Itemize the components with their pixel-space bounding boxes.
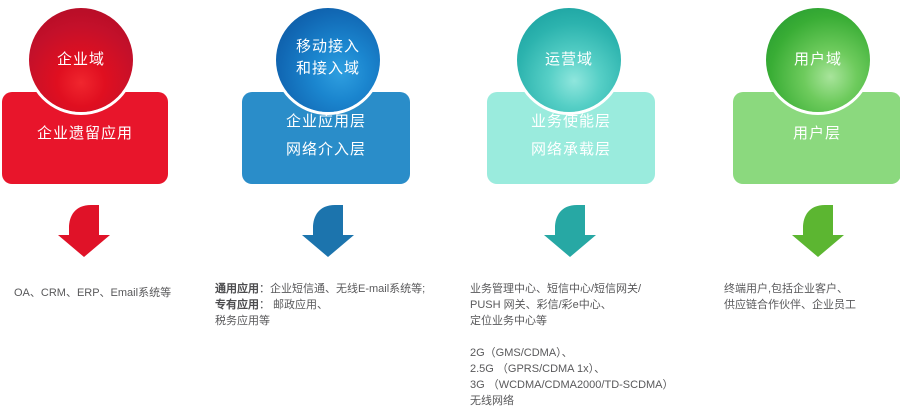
diagram-canvas: 企业遗留应用 企业域 OA、CRM、ERP、Email系统等 企业应用层 网络介… [0,0,900,404]
caption-operation-domain: 业务管理中心、短信中心/短信网关/ PUSH 网关、彩信/彩e中心、 定位业务中… [470,281,674,409]
layer-box-label: 网络承载层 [487,140,655,160]
caption-emphasis: 通用应用 [215,283,259,295]
domain-circle-operation-domain[interactable]: 运营域 [517,8,621,112]
layer-box-label: 用户层 [733,124,900,144]
domain-circle-label: 企业域 [29,50,133,69]
caption-line: 业务管理中心、短信中心/短信网关/ [470,281,674,297]
down-arrow-icon [299,203,359,259]
column-enterprise-domain: 企业遗留应用 企业域 OA、CRM、ERP、Email系统等 [0,0,230,404]
caption-line: 专有应用： 邮政应用、 [215,297,425,313]
down-arrow-icon [55,203,115,259]
domain-circle-enterprise-domain[interactable]: 企业域 [29,8,133,112]
domain-circle-label: 运营域 [517,50,621,69]
caption-line: 2G（GMS/CDMA）、 [470,345,674,361]
caption-line: 终端用户,包括企业客户、 [724,281,856,297]
caption-user-domain: 终端用户,包括企业客户、 供应链合作伙伴、企业员工 [724,281,856,313]
domain-circle-label: 用户域 [766,50,870,69]
caption-spacer [470,329,674,345]
down-arrow-icon [789,203,849,259]
caption-line: OA、CRM、ERP、Email系统等 [14,285,171,301]
column-mobile-access-domain: 企业应用层 网络介入层 移动接入 和接入域 通用应用：企业短信通、无线E-mai… [240,0,470,404]
caption-line: 3G （WCDMA/CDMA2000/TD-SCDMA） [470,377,674,393]
caption-mobile-access-domain: 通用应用：企业短信通、无线E-mail系统等; 专有应用： 邮政应用、 税务应用… [215,281,425,329]
layer-box-label: 企业应用层 [242,112,410,132]
caption-line: 定位业务中心等 [470,313,674,329]
caption-line: 供应链合作伙伴、企业员工 [724,297,856,313]
caption-line: 税务应用等 [215,313,425,329]
domain-circle-user-domain[interactable]: 用户域 [766,8,870,112]
caption-text: ：企业短信通、无线E-mail系统等; [259,283,425,295]
caption-enterprise-domain: OA、CRM、ERP、Email系统等 [14,285,171,301]
column-operation-domain: 业务使能层 网络承载层 运营域 业务管理中心、短信中心/短信网关/ PUSH 网… [485,0,715,404]
caption-emphasis: 专有应用 [215,299,259,311]
caption-line: 通用应用：企业短信通、无线E-mail系统等; [215,281,425,297]
caption-line: PUSH 网关、彩信/彩e中心、 [470,297,674,313]
domain-circle-mobile-access-domain[interactable]: 移动接入 和接入域 [276,8,380,112]
column-user-domain: 用户层 用户域 终端用户,包括企业客户、 供应链合作伙伴、企业员工 [731,0,900,404]
down-arrow-icon [541,203,601,259]
layer-box-label: 企业遗留应用 [2,124,168,144]
caption-line: 2.5G （GPRS/CDMA 1x）、 [470,361,674,377]
domain-circle-label: 移动接入 [276,37,380,56]
caption-line: 无线网络 [470,393,674,409]
layer-box-label: 业务使能层 [487,112,655,132]
caption-text: ： 邮政应用、 [259,299,328,311]
domain-circle-label: 和接入域 [276,59,380,78]
layer-box-label: 网络介入层 [242,140,410,160]
